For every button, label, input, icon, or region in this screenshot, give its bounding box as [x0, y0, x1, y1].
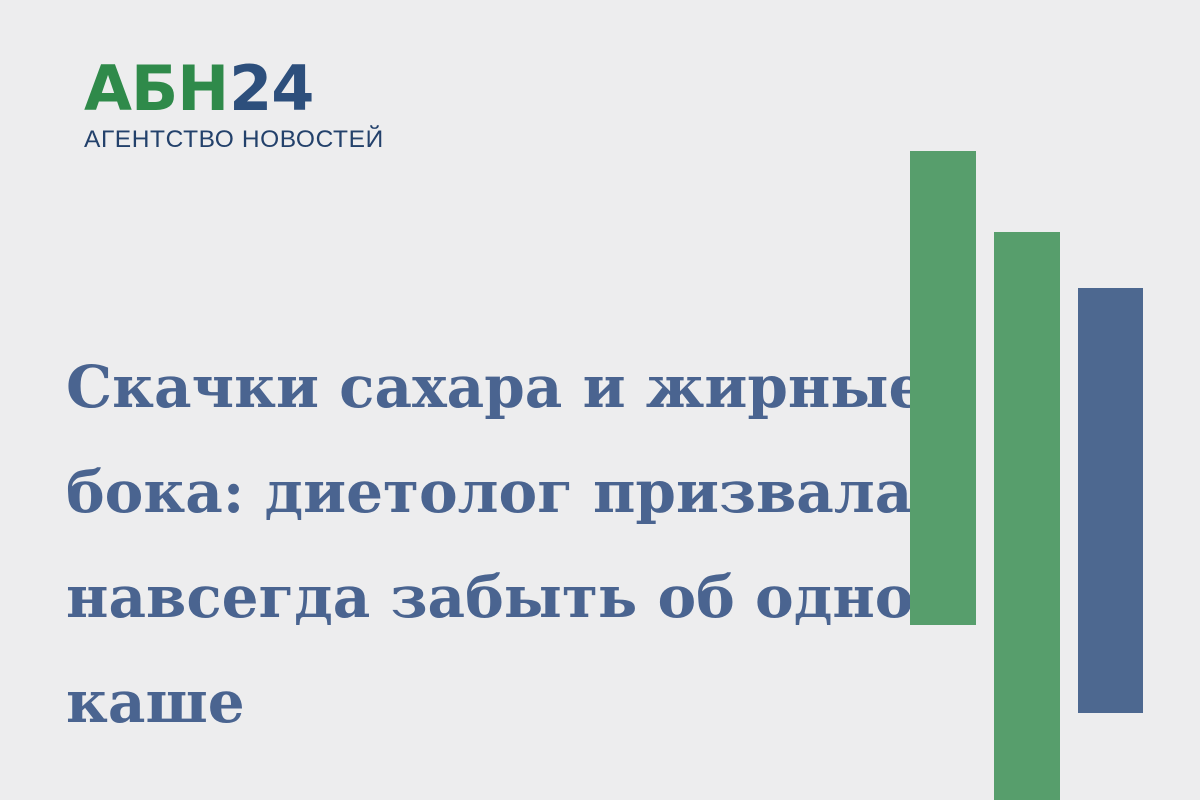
logo-wordmark-abn: АБН [84, 52, 228, 125]
site-logo[interactable]: АБН24 АГЕНТСТВО НОВОСТЕЙ [84, 58, 384, 158]
headline: Скачки сахара и жирные бока: диетолог пр… [66, 335, 856, 755]
logo-tagline: АГЕНТСТВО НОВОСТЕЙ [84, 126, 384, 154]
news-card: АБН24 АГЕНТСТВО НОВОСТЕЙ Скачки сахара и… [0, 0, 1200, 800]
headline-line-2: бока: диетолог призвала [66, 440, 856, 545]
decorative-bar-2 [994, 232, 1060, 800]
logo-wordmark: АБН24 [84, 58, 384, 120]
headline-line-1: Скачки сахара и жирные [66, 335, 856, 440]
headline-line-4: каше [66, 650, 856, 755]
logo-wordmark-24: 24 [229, 52, 313, 125]
decorative-bar-3 [1078, 288, 1143, 713]
headline-line-3: навсегда забыть об одной [66, 545, 856, 650]
